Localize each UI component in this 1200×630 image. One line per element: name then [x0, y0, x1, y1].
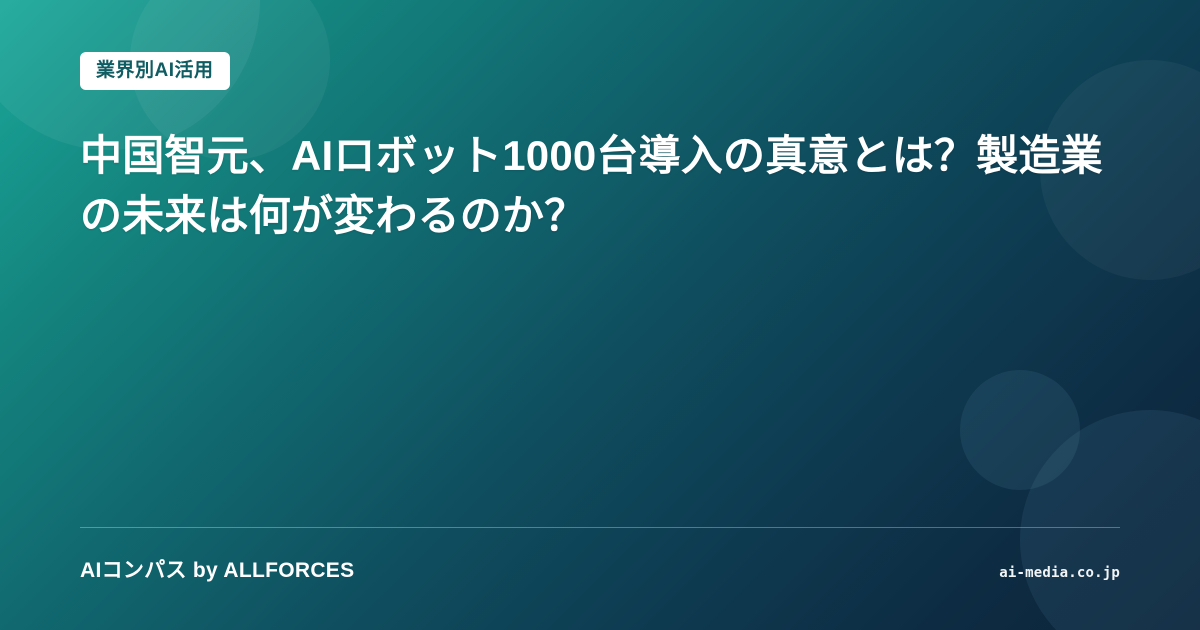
footer-divider [80, 527, 1120, 528]
site-domain: ai-media.co.jp [999, 565, 1120, 581]
category-badge: 業界別AI活用 [80, 52, 230, 90]
brand-name: AIコンパス by ALLFORCES [80, 554, 354, 584]
card-footer: AIコンパス by ALLFORCES ai-media.co.jp [80, 527, 1120, 584]
social-share-card: 業界別AI活用 中国智元、AIロボット1000台導入の真意とは？製造業の未来は何… [0, 0, 1200, 630]
footer-row: AIコンパス by ALLFORCES ai-media.co.jp [80, 554, 1120, 584]
page-title: 中国智元、AIロボット1000台導入の真意とは？製造業の未来は何が変わるのか？ [80, 126, 1120, 245]
